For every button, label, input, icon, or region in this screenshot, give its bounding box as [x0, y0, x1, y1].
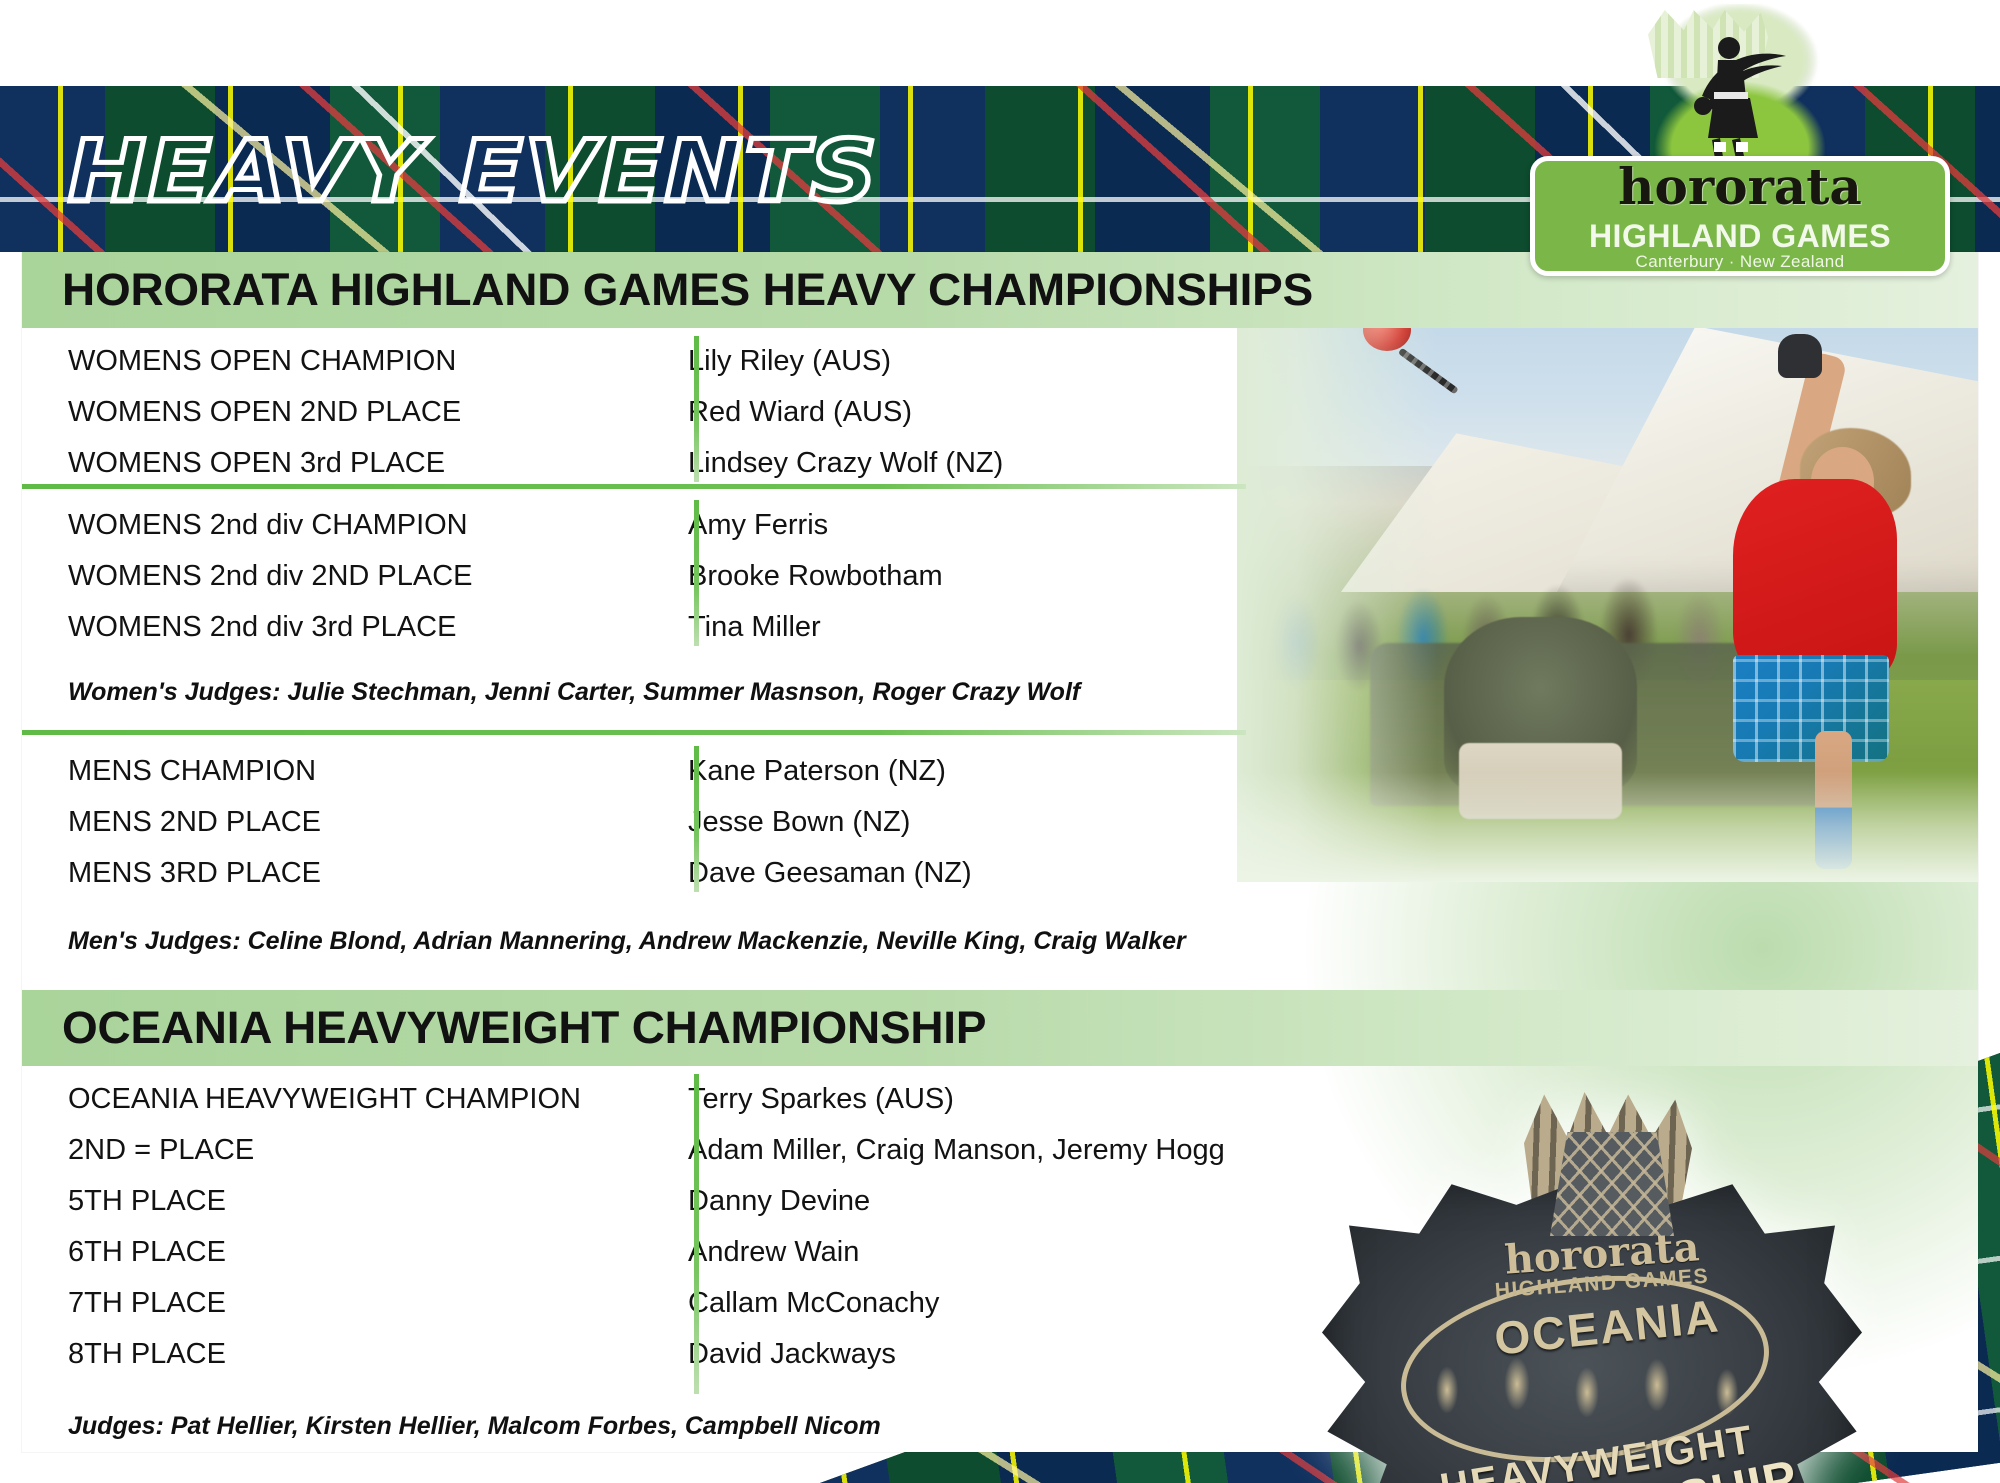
- row-name: Adam Miller, Craig Manson, Jeremy Hogg: [652, 1134, 1225, 1167]
- oceania-judges-line: Judges: Pat Hellier, Kirsten Hellier, Ma…: [68, 1412, 881, 1441]
- table-row: WOMENS OPEN CHAMPION Lily Riley (AUS): [22, 336, 1978, 387]
- section-heading-label: OCEANIA HEAVYWEIGHT CHAMPIONSHIP: [62, 1002, 986, 1054]
- column-divider: [694, 336, 699, 482]
- section-header-oceania: OCEANIA HEAVYWEIGHT CHAMPIONSHIP: [22, 990, 1978, 1066]
- row-title: MENS CHAMPION: [22, 755, 652, 788]
- column-divider: [694, 500, 699, 646]
- row-name: David Jackways: [652, 1338, 896, 1371]
- logo-subtitle: HIGHLAND GAMES: [1530, 218, 1950, 255]
- row-name: Amy Ferris: [652, 509, 828, 542]
- row-title: MENS 3RD PLACE: [22, 857, 652, 890]
- row-title: 5TH PLACE: [22, 1185, 652, 1218]
- table-row: WOMENS 2nd div CHAMPION Amy Ferris: [22, 500, 1978, 551]
- results-card: HORORATA HIGHLAND GAMES HEAVY CHAMPIONSH…: [22, 252, 1978, 1452]
- mens-judges-line: Men's Judges: Celine Blond, Adrian Manne…: [68, 927, 1186, 956]
- table-row: WOMENS 2nd div 3rd PLACE Tina Miller: [22, 602, 1978, 653]
- row-title: WOMENS 2nd div 2ND PLACE: [22, 560, 652, 593]
- row-title: OCEANIA HEAVYWEIGHT CHAMPION: [22, 1083, 652, 1116]
- column-divider: [694, 1074, 699, 1394]
- table-row: WOMENS 2nd div 2ND PLACE Brooke Rowbotha…: [22, 551, 1978, 602]
- row-title: WOMENS 2nd div 3rd PLACE: [22, 611, 652, 644]
- row-title: WOMENS OPEN 3rd PLACE: [22, 447, 652, 480]
- table-row: MENS CHAMPION Kane Paterson (NZ): [22, 746, 1978, 797]
- page-title: HEAVY EVENTS: [68, 122, 879, 222]
- row-title: 6TH PLACE: [22, 1236, 652, 1269]
- oceania-heavyweight-medal-badge: hororata HIGHLAND GAMES OCEANIA HEAVYWEI…: [1312, 1092, 1872, 1483]
- row-title: MENS 2ND PLACE: [22, 806, 652, 839]
- group-divider: [22, 484, 1246, 489]
- row-name: Red Wiard (AUS): [652, 396, 912, 429]
- row-title: WOMENS OPEN CHAMPION: [22, 345, 652, 378]
- section-heading-label: HORORATA HIGHLAND GAMES HEAVY CHAMPIONSH…: [62, 264, 1313, 316]
- row-name: Jesse Bown (NZ): [652, 806, 910, 839]
- row-title: 7TH PLACE: [22, 1287, 652, 1320]
- poster-root: HEAVY EVENTS: [0, 0, 2000, 1483]
- row-title: 8TH PLACE: [22, 1338, 652, 1371]
- result-group-womens-2nd-div: WOMENS 2nd div CHAMPION Amy Ferris WOMEN…: [22, 500, 1978, 653]
- row-name: Lily Riley (AUS): [652, 345, 891, 378]
- thistle-net-icon: [1550, 1132, 1674, 1236]
- table-row: MENS 2ND PLACE Jesse Bown (NZ): [22, 797, 1978, 848]
- row-name: Dave Geesaman (NZ): [652, 857, 972, 890]
- logo-wordmark: hororata: [1530, 154, 1950, 220]
- table-row: WOMENS OPEN 3rd PLACE Lindsey Crazy Wolf…: [22, 438, 1978, 489]
- table-row: WOMENS OPEN 2ND PLACE Red Wiard (AUS): [22, 387, 1978, 438]
- row-title: 2ND = PLACE: [22, 1134, 652, 1167]
- hororata-highland-games-logo: hororata HIGHLAND GAMES Canterbury · New…: [1530, 4, 1950, 279]
- group-divider: [22, 730, 1246, 735]
- womens-judges-line: Women's Judges: Julie Stechman, Jenni Ca…: [68, 678, 1080, 707]
- row-title: WOMENS OPEN 2ND PLACE: [22, 396, 652, 429]
- row-name: Lindsey Crazy Wolf (NZ): [652, 447, 1003, 480]
- result-group-womens-open: WOMENS OPEN CHAMPION Lily Riley (AUS) WO…: [22, 336, 1978, 489]
- row-name: Tina Miller: [652, 611, 821, 644]
- column-divider: [694, 746, 699, 892]
- row-name: Danny Devine: [652, 1185, 870, 1218]
- row-title: WOMENS 2nd div CHAMPION: [22, 509, 652, 542]
- table-row: MENS 3RD PLACE Dave Geesaman (NZ): [22, 848, 1978, 899]
- result-group-mens: MENS CHAMPION Kane Paterson (NZ) MENS 2N…: [22, 746, 1978, 899]
- logo-location: Canterbury · New Zealand: [1530, 252, 1950, 272]
- row-name: Andrew Wain: [652, 1236, 859, 1269]
